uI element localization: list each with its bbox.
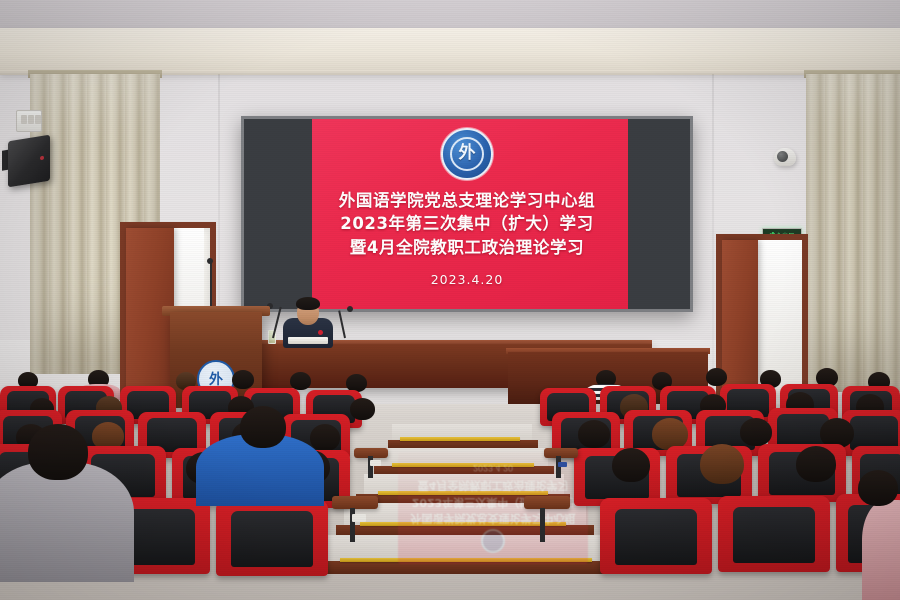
step-grip-strip-1 (400, 437, 520, 441)
wall-speaker (8, 135, 50, 188)
light-switch-plate[interactable] (16, 110, 42, 132)
led-slide: 外 外国语学院党总支理论学习中心组 2023年第三次集中（扩大）学习 暨4月全院… (244, 119, 690, 309)
ceiling-soffit (0, 28, 900, 74)
seat-number-plate (352, 514, 366, 522)
presenter-hair (296, 297, 320, 310)
seat-tag (558, 462, 567, 467)
podium-microphone (210, 262, 212, 310)
armrest (524, 496, 570, 509)
seat-number-plate (370, 460, 381, 466)
table-microphone-head-2 (347, 306, 353, 312)
led-headline-line-3: 暨4月全院教职工政治理论学习 (339, 236, 596, 259)
curtain-right (806, 74, 900, 392)
dome-camera (774, 148, 796, 166)
audience-head (796, 446, 836, 482)
armrest-post (556, 456, 561, 478)
armrest (332, 496, 378, 509)
led-headline-line-1: 外国语学院党总支理论学习中心组 (339, 189, 596, 212)
reflected-date: 2023.4.20 (473, 463, 513, 473)
documents-on-table (288, 337, 328, 344)
seat[interactable] (600, 498, 712, 574)
seat[interactable] (216, 500, 328, 576)
armrest (544, 448, 578, 458)
university-emblem-icon: 外 (441, 128, 493, 180)
reflected-emblem-icon (481, 529, 505, 553)
audience-head (740, 418, 772, 446)
audience-head (240, 406, 286, 448)
audience-person-right-foreground (862, 500, 900, 600)
wall-seam-right (712, 74, 714, 374)
door-right-leaf[interactable] (722, 240, 758, 404)
podium-microphone-head (207, 258, 213, 264)
led-date: 2023.4.20 (431, 272, 504, 287)
led-display-wall: 外 外国语学院党总支理论学习中心组 2023年第三次集中（扩大）学习 暨4月全院… (241, 116, 693, 312)
auditorium-photo: 安全出口 外 外国语学院党总支理论学习中心组 2023年第三次集中（扩大）学习 … (0, 0, 900, 600)
audience-head (350, 398, 375, 420)
audience-head (612, 448, 650, 482)
presenter-badge (318, 330, 323, 335)
audience-head (28, 424, 88, 480)
led-headline: 外国语学院党总支理论学习中心组 2023年第三次集中（扩大）学习 暨4月全院教职… (339, 189, 596, 259)
audience-head (578, 420, 610, 448)
seat[interactable] (718, 496, 830, 572)
emblem-glyph: 外 (459, 145, 476, 162)
audience-head (700, 444, 744, 484)
armrest-post (540, 508, 545, 542)
led-headline-line-2: 2023年第三次集中（扩大）学习 (339, 212, 596, 235)
audience-head (858, 470, 898, 506)
audience-head (310, 424, 340, 451)
reflected-line-3: 暨4月全院教职工政治理论学习 (418, 477, 569, 494)
audience-person-grey-shirt (0, 462, 134, 582)
reflected-line-1: 外国语学院党总支理论学习中心组 (411, 510, 576, 527)
